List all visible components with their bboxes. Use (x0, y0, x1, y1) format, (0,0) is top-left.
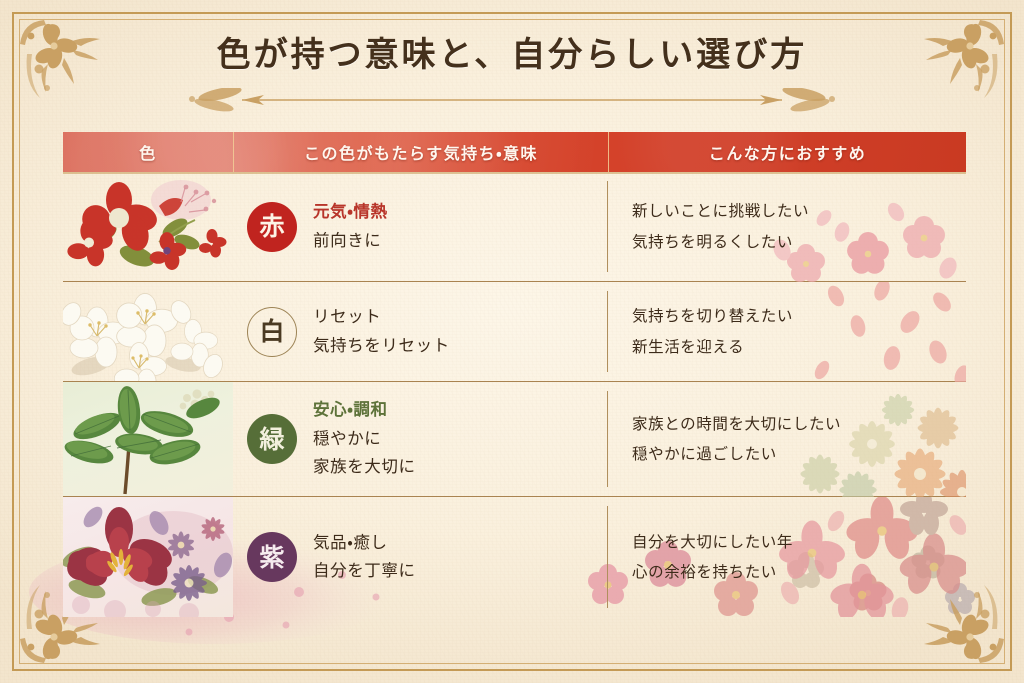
color-illustration-cell (63, 282, 233, 381)
meaning-line: 家族を大切に (313, 453, 416, 481)
meaning-line: 自分を丁寧に (313, 557, 416, 585)
color-illustration-cell (63, 382, 233, 496)
color-badge-green: 緑 (247, 414, 297, 464)
column-header-color: 色 (63, 132, 233, 172)
meaning-cell: 白 リセット 気持ちをリセット (233, 282, 608, 381)
color-badge-label: 緑 (259, 427, 284, 452)
color-badge-purple: 紫 (247, 532, 297, 582)
recommendation-line: 気持ちを明るくしたい (632, 227, 809, 257)
meaning-line: 気品・癒し (313, 529, 416, 557)
recommendation-cell: 家族との時間を大切にしたい 穏やかに過ごしたい (608, 382, 966, 496)
recommendation-line: 家族との時間を大切にしたい (632, 409, 841, 439)
purple-peony-illustration (63, 497, 233, 617)
meaning-line: 気持ちをリセット (313, 332, 450, 360)
recommendation-line: 新しいことに挑戦したい (632, 196, 809, 226)
recommendation-text: 自分を大切にしたい年 心の余裕を持ちたい (632, 527, 793, 587)
recommendation-cell: 気持ちを切り替えたい 新生活を迎える (608, 282, 966, 381)
color-badge-white: 白 (247, 307, 297, 357)
infographic-page: 色が持つ意味と、自分らしい選び方 色 この色がもたらす気持ち・意味 こんな方にお… (0, 0, 1024, 683)
meaning-text: 元気・情熱 前向きに (313, 198, 388, 255)
color-meaning-table: 色 この色がもたらす気持ち・意味 こんな方におすすめ (63, 132, 966, 617)
column-header-meaning: この色がもたらす気持ち・意味 (233, 132, 608, 172)
meaning-text: 安心・調和 穏やかに 家族を大切に (313, 396, 416, 481)
recommendation-cell: 新しいことに挑戦したい 気持ちを明るくしたい (608, 172, 966, 281)
color-badge-red: 赤 (247, 202, 297, 252)
color-badge-label: 白 (259, 319, 284, 344)
meaning-line: 前向きに (313, 227, 388, 255)
table-row[interactable]: 白 リセット 気持ちをリセット (63, 282, 966, 382)
recommendation-line: 自分を大切にしたい年 (632, 527, 793, 557)
white-blossom-illustration (63, 282, 233, 381)
table-body: 赤 元気・情熱 前向きに (63, 172, 966, 617)
recommendation-line: 気持ちを切り替えたい (632, 301, 793, 331)
title-rule-ornament (0, 88, 1024, 112)
meaning-line: 安心・調和 (313, 396, 416, 424)
recommendation-line: 心の余裕を持ちたい (632, 557, 793, 587)
meaning-text: リセット 気持ちをリセット (313, 303, 450, 360)
recommendation-text: 新しいことに挑戦したい 気持ちを明るくしたい (632, 196, 809, 256)
table-row[interactable]: 緑 安心・調和 穏やかに 家族を大切に (63, 382, 966, 497)
table-row[interactable]: 紫 気品・癒し 自分を丁寧に (63, 497, 966, 617)
column-header-recommendation: こんな方におすすめ (608, 132, 966, 172)
recommendation-text: 家族との時間を大切にしたい 穏やかに過ごしたい (632, 409, 841, 469)
meaning-cell: 紫 気品・癒し 自分を丁寧に (233, 497, 608, 617)
page-title: 色が持つ意味と、自分らしい選び方 (0, 34, 1024, 77)
meaning-line: リセット (313, 303, 450, 331)
table-header-row: 色 この色がもたらす気持ち・意味 こんな方におすすめ (63, 132, 966, 172)
recommendation-text: 気持ちを切り替えたい 新生活を迎える (632, 301, 793, 361)
meaning-cell: 緑 安心・調和 穏やかに 家族を大切に (233, 382, 608, 496)
meaning-line: 穏やかに (313, 425, 416, 453)
color-badge-label: 紫 (259, 545, 284, 570)
green-leaves-illustration (63, 382, 233, 496)
color-illustration-cell (63, 172, 233, 281)
red-camellia-illustration (63, 172, 233, 281)
meaning-text: 気品・癒し 自分を丁寧に (313, 529, 416, 586)
recommendation-line: 新生活を迎える (632, 332, 793, 362)
recommendation-line: 穏やかに過ごしたい (632, 439, 841, 469)
page-title-block: 色が持つ意味と、自分らしい選び方 (0, 34, 1024, 77)
meaning-line: 元気・情熱 (313, 198, 388, 226)
color-badge-label: 赤 (259, 214, 284, 239)
meaning-cell: 赤 元気・情熱 前向きに (233, 172, 608, 281)
table-row[interactable]: 赤 元気・情熱 前向きに (63, 172, 966, 282)
color-illustration-cell (63, 497, 233, 617)
recommendation-cell: 自分を大切にしたい年 心の余裕を持ちたい (608, 497, 966, 617)
